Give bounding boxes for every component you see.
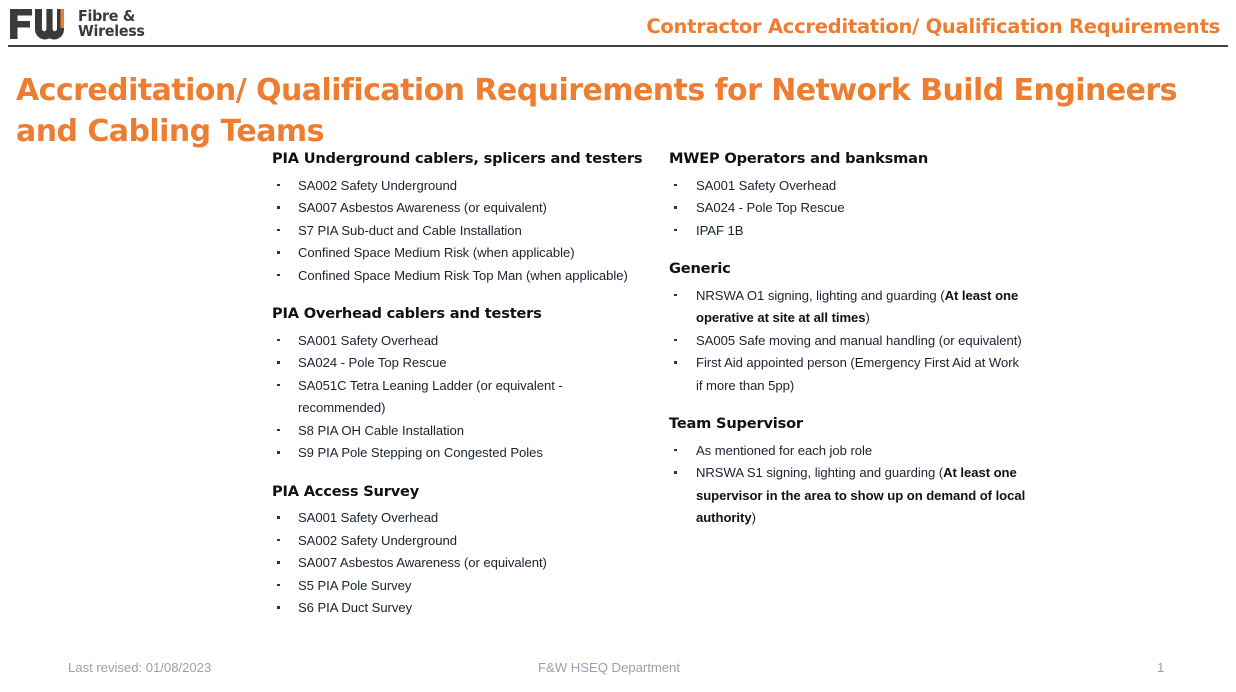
- section: PIA Underground cablers, splicers and te…: [272, 150, 652, 287]
- section-heading: Generic: [669, 260, 1029, 278]
- logo-line-2: Wireless: [78, 24, 145, 39]
- page-header: Fibre & Wireless Contractor Accreditatio…: [0, 0, 1236, 48]
- company-logo: Fibre & Wireless: [8, 4, 198, 44]
- section-heading: PIA Overhead cablers and testers: [272, 305, 652, 323]
- section: GenericNRSWA O1 signing, lighting and gu…: [669, 260, 1029, 397]
- left-column: PIA Underground cablers, splicers and te…: [272, 150, 652, 638]
- requirement-list: SA001 Safety OverheadSA024 - Pole Top Re…: [272, 330, 652, 465]
- list-item: SA007 Asbestos Awareness (or equivalent): [272, 197, 652, 220]
- list-item: SA001 Safety Overhead: [669, 175, 1029, 198]
- requirement-list: SA001 Safety OverheadSA002 Safety Underg…: [272, 507, 652, 620]
- list-item: As mentioned for each job role: [669, 440, 1029, 463]
- fw-monogram-icon: [8, 7, 70, 41]
- list-item: IPAF 1B: [669, 220, 1029, 243]
- list-item: S8 PIA OH Cable Installation: [272, 420, 652, 443]
- list-item: SA051C Tetra Leaning Ladder (or equivale…: [272, 375, 652, 420]
- section: MWEP Operators and banksmanSA001 Safety …: [669, 150, 1029, 242]
- list-item: SA005 Safe moving and manual handling (o…: [669, 330, 1029, 353]
- requirement-list: NRSWA O1 signing, lighting and guarding …: [669, 285, 1029, 398]
- list-item: S7 PIA Sub-duct and Cable Installation: [272, 220, 652, 243]
- requirement-list: SA001 Safety OverheadSA024 - Pole Top Re…: [669, 175, 1029, 243]
- logo-wordmark: Fibre & Wireless: [78, 9, 150, 39]
- list-item: Confined Space Medium Risk Top Man (when…: [272, 265, 652, 288]
- list-item: SA024 - Pole Top Rescue: [272, 352, 652, 375]
- header-title: Contractor Accreditation/ Qualification …: [646, 15, 1220, 38]
- list-item: S5 PIA Pole Survey: [272, 575, 652, 598]
- list-item: S9 PIA Pole Stepping on Congested Poles: [272, 442, 652, 465]
- section-heading: MWEP Operators and banksman: [669, 150, 1029, 168]
- footer-last-revised: Last revised: 01/08/2023: [68, 660, 211, 675]
- list-item: NRSWA S1 signing, lighting and guarding …: [669, 462, 1029, 530]
- section-heading: PIA Access Survey: [272, 483, 652, 501]
- section-heading: PIA Underground cablers, splicers and te…: [272, 150, 652, 168]
- slide-content: PIA Underground cablers, splicers and te…: [0, 150, 1236, 660]
- list-item: First Aid appointed person (Emergency Fi…: [669, 352, 1029, 397]
- list-item: S6 PIA Duct Survey: [272, 597, 652, 620]
- requirement-list: As mentioned for each job roleNRSWA S1 s…: [669, 440, 1029, 530]
- list-item: SA007 Asbestos Awareness (or equivalent): [272, 552, 652, 575]
- section: Team SupervisorAs mentioned for each job…: [669, 415, 1029, 530]
- requirement-list: SA002 Safety UndergroundSA007 Asbestos A…: [272, 175, 652, 288]
- page-footer: Last revised: 01/08/2023 F&W HSEQ Depart…: [0, 660, 1236, 692]
- footer-page-number: 1: [1157, 660, 1164, 675]
- list-item: SA002 Safety Underground: [272, 175, 652, 198]
- list-item: SA001 Safety Overhead: [272, 330, 652, 353]
- section: PIA Overhead cablers and testersSA001 Sa…: [272, 305, 652, 465]
- list-item: SA002 Safety Underground: [272, 530, 652, 553]
- page-title: Accreditation/ Qualification Requirement…: [16, 70, 1221, 153]
- section: PIA Access SurveySA001 Safety OverheadSA…: [272, 483, 652, 620]
- list-item: SA024 - Pole Top Rescue: [669, 197, 1029, 220]
- right-column: MWEP Operators and banksmanSA001 Safety …: [669, 150, 1029, 548]
- section-heading: Team Supervisor: [669, 415, 1029, 433]
- list-item: SA001 Safety Overhead: [272, 507, 652, 530]
- header-divider: [8, 45, 1228, 47]
- footer-department: F&W HSEQ Department: [538, 660, 680, 675]
- list-item: Confined Space Medium Risk (when applica…: [272, 242, 652, 265]
- list-item: NRSWA O1 signing, lighting and guarding …: [669, 285, 1029, 330]
